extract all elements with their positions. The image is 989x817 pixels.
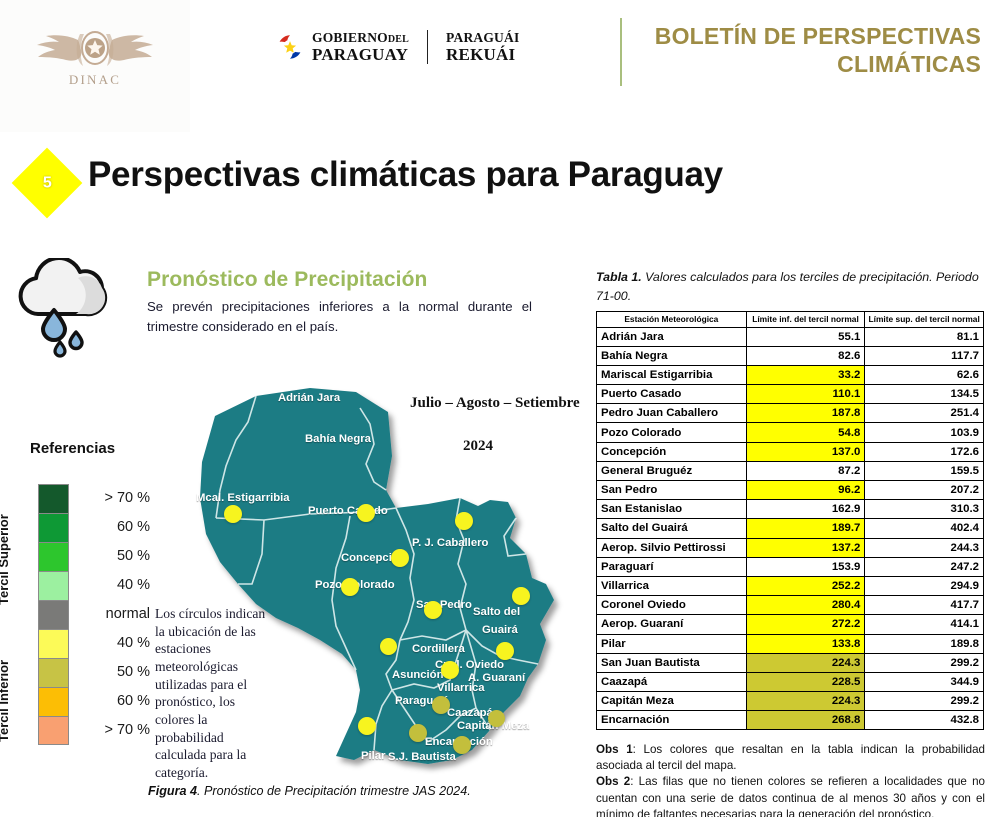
rain-cloud-icon — [12, 258, 120, 358]
map-station-marker — [512, 587, 530, 605]
cell-station: Salto del Guairá — [597, 519, 747, 538]
map-station-marker — [358, 717, 376, 735]
cell-upper-limit: 159.5 — [865, 461, 984, 480]
cell-station: Aerop. Silvio Pettirossi — [597, 538, 747, 557]
col-header-upper-limit: Límite sup. del tercil normal — [865, 312, 984, 328]
table-row: Adrián Jara55.181.1 — [597, 327, 984, 346]
legend-label-3: 40 % — [74, 571, 152, 600]
table-row: Pozo Colorado54.8103.9 — [597, 423, 984, 442]
cell-upper-limit: 207.2 — [865, 481, 984, 500]
table-row: Bahía Negra82.6117.7 — [597, 346, 984, 365]
table-row: San Juan Bautista224.3299.2 — [597, 653, 984, 672]
table-row: Paraguarí153.9247.2 — [597, 557, 984, 576]
dinac-logo-panel: DINAC — [0, 0, 190, 132]
cell-upper-limit: 81.1 — [865, 327, 984, 346]
table-row: Concepción137.0172.6 — [597, 442, 984, 461]
cell-upper-limit: 103.9 — [865, 423, 984, 442]
gov-text-spanish: GOBIERNODEL PARAGUAY — [312, 31, 409, 63]
section-title-row: 5 Perspectivas climáticas para Paraguay — [0, 150, 989, 212]
legend-swatch-4 — [38, 600, 69, 629]
cell-upper-limit: 134.5 — [865, 385, 984, 404]
legend-swatch-8 — [38, 716, 69, 745]
legend-swatch-5 — [38, 629, 69, 658]
cell-station: Concepción — [597, 442, 747, 461]
section-number: 5 — [43, 174, 52, 192]
table-row: Capitán Meza224.3299.2 — [597, 692, 984, 711]
legend-axis-upper: Tercil Superior — [0, 490, 11, 605]
figure-caption: Figura 4. Pronóstico de Precipitación tr… — [148, 784, 578, 798]
table-title-text: Valores calculados para los terciles de … — [596, 270, 979, 303]
cell-lower-limit: 272.2 — [746, 615, 865, 634]
map-station-marker — [488, 710, 505, 727]
cell-station: Paraguarí — [597, 557, 747, 576]
dinac-wings-emblem-icon — [20, 22, 170, 74]
cell-station: Caazapá — [597, 672, 747, 691]
paraguay-forecast-map: Julio – Agosto – Setiembre 2024 Adrián J… — [160, 378, 585, 778]
table-row: Pedro Juan Caballero187.8251.4 — [597, 404, 984, 423]
cell-lower-limit: 137.0 — [746, 442, 865, 461]
header-accent-rule — [620, 18, 622, 86]
cell-station: Villarrica — [597, 576, 747, 595]
cell-station: General Bruguéz — [597, 461, 747, 480]
map-station-marker — [455, 512, 473, 530]
table-head: Estación Meteorológica Límite inf. del t… — [597, 312, 984, 328]
legend-swatch-1 — [38, 513, 69, 542]
legend-labels: > 70 %60 %50 %40 %normal40 %50 %60 %> 70… — [74, 484, 152, 745]
table-observations: Obs 1: Los colores que resaltan en la ta… — [596, 742, 985, 817]
table-title-label: Tabla 1. — [596, 270, 642, 284]
cell-lower-limit: 82.6 — [746, 346, 865, 365]
observation-2-text: : Las filas que no tienen colores se ref… — [596, 775, 985, 817]
cell-upper-limit: 417.7 — [865, 596, 984, 615]
legend-swatch-3 — [38, 571, 69, 600]
legend-label-1: 60 % — [74, 513, 152, 542]
map-station-marker — [380, 638, 397, 655]
table-row: Villarrica252.2294.9 — [597, 576, 984, 595]
cell-station: San Estanislao — [597, 500, 747, 519]
bulletin-page: DINAC GOBIERNODEL PARAGUAY PARAGUÁI REKU… — [0, 0, 989, 817]
cell-lower-limit: 228.5 — [746, 672, 865, 691]
cell-lower-limit: 153.9 — [746, 557, 865, 576]
map-period-line1: Julio – Agosto – Setiembre — [410, 395, 580, 412]
cell-lower-limit: 54.8 — [746, 423, 865, 442]
map-station-marker — [432, 696, 450, 714]
cell-upper-limit: 299.2 — [865, 692, 984, 711]
legend-swatch-0 — [38, 484, 69, 513]
cell-lower-limit: 55.1 — [746, 327, 865, 346]
cell-station: Encarnación — [597, 711, 747, 730]
table-row: Pilar133.8189.8 — [597, 634, 984, 653]
legend-swatch-7 — [38, 687, 69, 716]
dinac-label: DINAC — [69, 72, 121, 88]
cell-station: Pedro Juan Caballero — [597, 404, 747, 423]
table-row: Aerop. Silvio Pettirossi137.2244.3 — [597, 538, 984, 557]
cell-station: Mariscal Estigarribia — [597, 365, 747, 384]
gov-alt-line1: PARAGUÁI — [446, 31, 519, 45]
map-station-marker — [224, 505, 242, 523]
map-station-marker — [424, 601, 442, 619]
legend-label-2: 50 % — [74, 542, 152, 571]
cell-lower-limit: 224.3 — [746, 692, 865, 711]
cell-station: Pilar — [597, 634, 747, 653]
legend-swatches — [38, 484, 69, 745]
observation-2-label: Obs 2 — [596, 775, 630, 788]
forecast-description: Se prevén precipitaciones inferiores a l… — [147, 297, 532, 337]
gov-text-guarani: PARAGUÁI REKUÁI — [446, 31, 519, 63]
cell-upper-limit: 172.6 — [865, 442, 984, 461]
cell-upper-limit: 247.2 — [865, 557, 984, 576]
observation-1-label: Obs 1 — [596, 743, 633, 756]
table-header-row: Estación Meteorológica Límite inf. del t… — [597, 312, 984, 328]
page-header: DINAC GOBIERNODEL PARAGUAY PARAGUÁI REKU… — [0, 0, 989, 132]
gov-alt-line2: REKUÁI — [446, 46, 519, 63]
cell-lower-limit: 280.4 — [746, 596, 865, 615]
cell-station: Puerto Casado — [597, 385, 747, 404]
legend-axis-lower: Tercil Inferior — [0, 632, 11, 742]
cell-station: Aerop. Guaraní — [597, 615, 747, 634]
gov-line1-small: DEL — [388, 34, 409, 45]
gov-logo-divider — [427, 30, 428, 64]
table-title: Tabla 1. Valores calculados para los ter… — [596, 268, 986, 306]
cell-lower-limit: 162.9 — [746, 500, 865, 519]
cell-lower-limit: 87.2 — [746, 461, 865, 480]
gov-line2: PARAGUAY — [312, 46, 409, 63]
cell-station: Adrián Jara — [597, 327, 747, 346]
cell-station: Coronel Oviedo — [597, 596, 747, 615]
col-header-lower-limit: Límite inf. del tercil normal — [746, 312, 865, 328]
table-row: San Estanislao162.9310.3 — [597, 500, 984, 519]
observation-1-text: : Los colores que resaltan en la tabla i… — [596, 743, 985, 772]
forecast-heading: Pronóstico de Precipitación — [147, 268, 427, 292]
map-station-marker — [453, 736, 471, 754]
legend-label-8: > 70 % — [74, 716, 152, 745]
col-header-station: Estación Meteorológica — [597, 312, 747, 328]
cell-lower-limit: 187.8 — [746, 404, 865, 423]
table-row: Mariscal Estigarribia33.262.6 — [597, 365, 984, 384]
map-period-line2: 2024 — [463, 438, 493, 455]
table-row: Aerop. Guaraní272.2414.1 — [597, 615, 984, 634]
cell-lower-limit: 268.8 — [746, 711, 865, 730]
cell-station: San Pedro — [597, 481, 747, 500]
cell-upper-limit: 299.2 — [865, 653, 984, 672]
cell-lower-limit: 252.2 — [746, 576, 865, 595]
table-row: Encarnación268.8432.8 — [597, 711, 984, 730]
cell-lower-limit: 137.2 — [746, 538, 865, 557]
observation-1: Obs 1: Los colores que resaltan en la ta… — [596, 742, 985, 774]
table-row: Salto del Guairá189.7402.4 — [597, 519, 984, 538]
table-body: Adrián Jara55.181.1Bahía Negra82.6117.7M… — [597, 327, 984, 730]
map-station-marker — [496, 642, 514, 660]
map-station-marker — [341, 578, 359, 596]
cell-upper-limit: 251.4 — [865, 404, 984, 423]
legend-swatch-2 — [38, 542, 69, 571]
cell-lower-limit: 133.8 — [746, 634, 865, 653]
map-station-marker — [441, 661, 459, 679]
map-station-marker — [409, 724, 427, 742]
figure-caption-text: . Pronóstico de Precipitación trimestre … — [197, 784, 471, 798]
cell-station: Bahía Negra — [597, 346, 747, 365]
gobierno-paraguay-logo: GOBIERNODEL PARAGUAY PARAGUÁI REKUÁI — [277, 30, 519, 64]
observation-2: Obs 2: Las filas que no tienen colores s… — [596, 774, 985, 817]
paraguay-star-emblem-icon — [277, 34, 303, 60]
cell-upper-limit: 244.3 — [865, 538, 984, 557]
cell-upper-limit: 344.9 — [865, 672, 984, 691]
table-row: Coronel Oviedo280.4417.7 — [597, 596, 984, 615]
cell-upper-limit: 432.8 — [865, 711, 984, 730]
legend-label-0: > 70 % — [74, 484, 152, 513]
cell-lower-limit: 110.1 — [746, 385, 865, 404]
cell-lower-limit: 224.3 — [746, 653, 865, 672]
cell-upper-limit: 62.6 — [865, 365, 984, 384]
table-row: General Bruguéz87.2159.5 — [597, 461, 984, 480]
legend-label-7: 60 % — [74, 687, 152, 716]
map-station-marker — [391, 549, 409, 567]
legend-label-5: 40 % — [74, 629, 152, 658]
cell-upper-limit: 294.9 — [865, 576, 984, 595]
table-row: Caazapá228.5344.9 — [597, 672, 984, 691]
cell-upper-limit: 189.8 — [865, 634, 984, 653]
cell-lower-limit: 33.2 — [746, 365, 865, 384]
table-row: Puerto Casado110.1134.5 — [597, 385, 984, 404]
cell-lower-limit: 189.7 — [746, 519, 865, 538]
legend-swatch-6 — [38, 658, 69, 687]
cell-station: Pozo Colorado — [597, 423, 747, 442]
legend-label-4: normal — [74, 600, 152, 629]
cell-upper-limit: 402.4 — [865, 519, 984, 538]
bulletin-title: BOLETÍN DE PERSPECTIVAS CLIMÁTICAS — [645, 22, 981, 78]
cell-lower-limit: 96.2 — [746, 481, 865, 500]
figure-caption-label: Figura 4 — [148, 784, 197, 798]
section-number-badge: 5 — [12, 148, 83, 219]
legend-label-6: 50 % — [74, 658, 152, 687]
page-title: Perspectivas climáticas para Paraguay — [88, 155, 723, 195]
cell-station: San Juan Bautista — [597, 653, 747, 672]
cell-upper-limit: 414.1 — [865, 615, 984, 634]
gov-line1-main: GOBIERNO — [312, 30, 388, 45]
table-row: San Pedro96.2207.2 — [597, 481, 984, 500]
terciles-table: Estación Meteorológica Límite inf. del t… — [596, 311, 984, 730]
cell-upper-limit: 310.3 — [865, 500, 984, 519]
map-station-marker — [357, 504, 375, 522]
legend-title: Referencias — [30, 440, 115, 457]
cell-station: Capitán Meza — [597, 692, 747, 711]
cell-upper-limit: 117.7 — [865, 346, 984, 365]
